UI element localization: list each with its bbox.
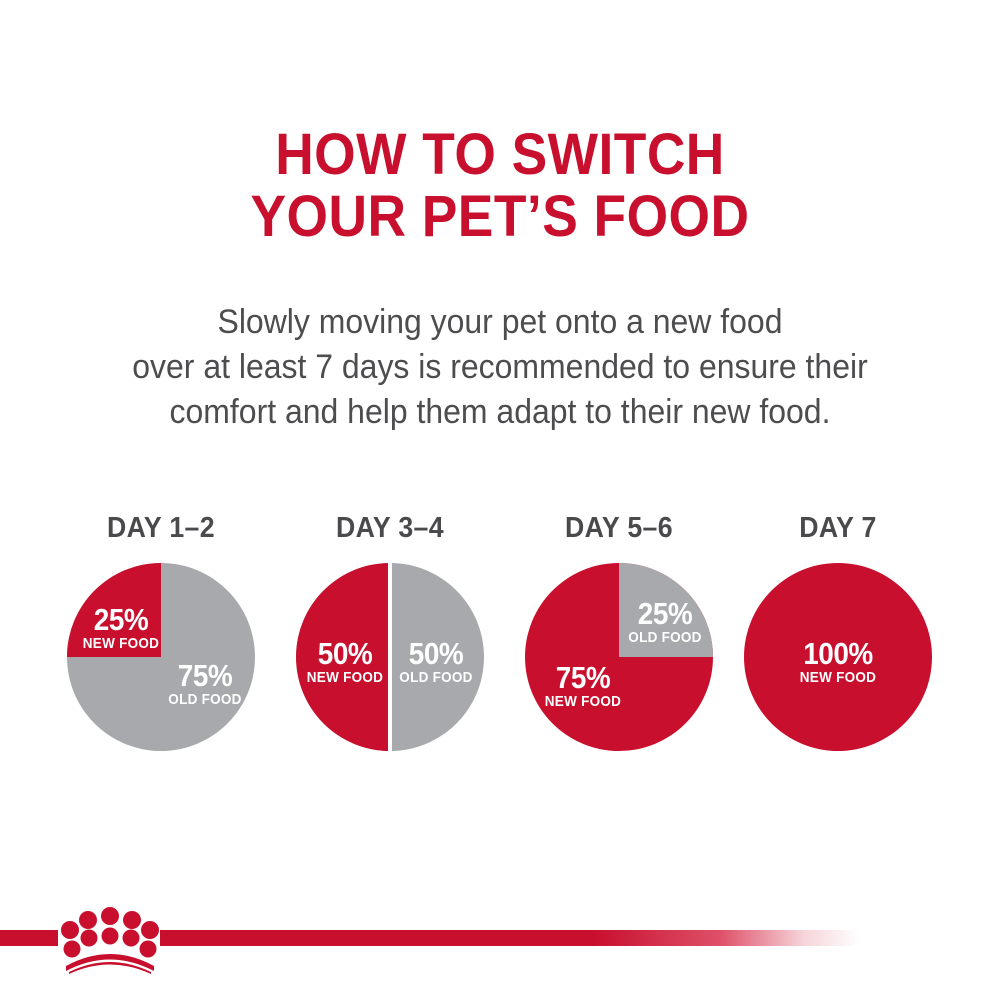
pie-chart-day-7: 100% NEW FOOD [744, 563, 932, 751]
page-title-line-1: HOW TO SWITCH [40, 124, 960, 186]
intro-line-3: comfort and help them adapt to their new… [30, 390, 970, 435]
intro-paragraph: Slowly moving your pet onto a new food o… [0, 300, 1000, 435]
pie-slice-old-food [619, 563, 713, 657]
crown-svg [56, 902, 164, 974]
pie-svg-day-5-6 [525, 563, 713, 751]
pie-title-day-3-4: DAY 3–4 [284, 513, 496, 543]
infographic-page: HOW TO SWITCH YOUR PET’S FOOD Slowly mov… [0, 0, 1000, 1000]
pie-chart-day-1-2: 25% NEW FOOD 75% OLD FOOD [67, 563, 255, 751]
pie-title-day-7: DAY 7 [732, 513, 944, 543]
page-title-line-2: YOUR PET’S FOOD [40, 186, 960, 248]
pie-svg-day-7 [744, 563, 932, 751]
pie-chart-row: DAY 1–2 25% NEW FOOD 75% OLD FOOD DAY 3–… [40, 505, 960, 765]
pie-divider [388, 563, 392, 751]
pie-title-day-1-2: DAY 1–2 [55, 513, 267, 543]
pie-chart-day-5-6: 25% OLD FOOD 75% NEW FOOD [525, 563, 713, 751]
footer [0, 890, 1000, 1000]
intro-line-1: Slowly moving your pet onto a new food [30, 300, 970, 345]
pie-slice-new-food [744, 563, 932, 751]
pie-svg-day-1-2 [67, 563, 255, 751]
footer-bar-left [0, 930, 58, 946]
pie-svg-day-3-4 [296, 563, 484, 751]
pie-card-day-3-4: DAY 3–4 50% NEW FOOD 50% OLD FOOD [275, 505, 505, 765]
pie-card-day-1-2: DAY 1–2 25% NEW FOOD 75% OLD FOOD [46, 505, 276, 765]
footer-bar-right [160, 930, 860, 946]
royal-canin-crown-icon [56, 902, 164, 974]
pie-slice-new-food [67, 563, 161, 657]
intro-line-2: over at least 7 days is recommended to e… [30, 345, 970, 390]
pie-title-day-5-6: DAY 5–6 [513, 513, 725, 543]
pie-chart-day-3-4: 50% NEW FOOD 50% OLD FOOD [296, 563, 484, 751]
page-title: HOW TO SWITCH YOUR PET’S FOOD [0, 124, 1000, 248]
pie-card-day-7: DAY 7 100% NEW FOOD [723, 505, 953, 765]
pie-card-day-5-6: DAY 5–6 25% OLD FOOD 75% NEW FOOD [504, 505, 734, 765]
pie-slice-new-food [296, 563, 390, 751]
